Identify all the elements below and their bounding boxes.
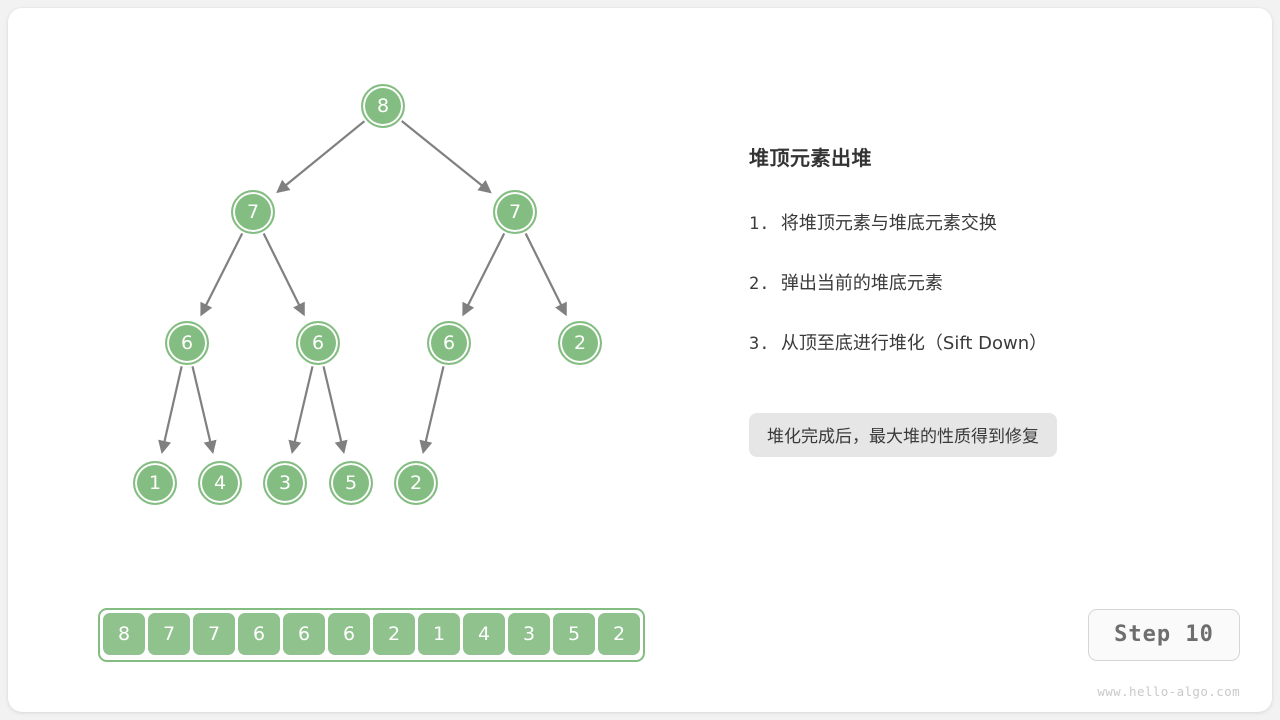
- tree-edge: [402, 121, 490, 192]
- array-cell: 6: [328, 613, 370, 655]
- screenshot-root: 877666214352 堆顶元素出堆 1. 将堆顶元素与堆底元素交换2. 弹出…: [0, 0, 1280, 720]
- tree-node: 2: [558, 321, 602, 365]
- tree-edge: [423, 366, 443, 451]
- step-index: 1.: [749, 214, 769, 234]
- tree-edge: [324, 366, 344, 451]
- heap-tree-diagram: 877666214352: [8, 8, 708, 568]
- array-cell: 6: [283, 613, 325, 655]
- step-badge: Step 10: [1088, 609, 1240, 661]
- step-item: 1. 将堆顶元素与堆底元素交换: [749, 209, 1219, 235]
- tree-edge: [278, 121, 365, 192]
- tree-edge: [193, 366, 213, 451]
- content-card: 877666214352 堆顶元素出堆 1. 将堆顶元素与堆底元素交换2. 弹出…: [8, 8, 1272, 712]
- tree-edge: [201, 233, 242, 314]
- tree-node: 6: [427, 321, 471, 365]
- array-cell: 5: [553, 613, 595, 655]
- tree-edge: [526, 233, 566, 314]
- tree-node: 6: [165, 321, 209, 365]
- tree-node: 2: [394, 461, 438, 505]
- tree-edge: [463, 233, 504, 314]
- tree-edge: [264, 233, 304, 314]
- tree-edge: [162, 366, 182, 451]
- array-cell: 6: [238, 613, 280, 655]
- step-index: 2.: [749, 274, 769, 294]
- tree-node: 7: [231, 190, 275, 234]
- tree-node: 3: [263, 461, 307, 505]
- array-cell: 7: [193, 613, 235, 655]
- step-text: 将堆顶元素与堆底元素交换: [769, 213, 996, 234]
- array-cell: 8: [103, 613, 145, 655]
- tree-node: 4: [198, 461, 242, 505]
- tree-node: 6: [296, 321, 340, 365]
- step-item: 3. 从顶至底进行堆化（Sift Down）: [749, 329, 1219, 355]
- array-cell: 7: [148, 613, 190, 655]
- panel-title: 堆顶元素出堆: [749, 142, 1219, 171]
- step-index: 3.: [749, 334, 769, 354]
- step-text: 弹出当前的堆底元素: [769, 273, 942, 294]
- steps-list: 1. 将堆顶元素与堆底元素交换2. 弹出当前的堆底元素3. 从顶至底进行堆化（S…: [749, 209, 1219, 355]
- step-item: 2. 弹出当前的堆底元素: [749, 269, 1219, 295]
- heap-array: 877666214352: [98, 608, 645, 662]
- tree-node: 5: [329, 461, 373, 505]
- array-cell: 1: [418, 613, 460, 655]
- tree-node: 1: [133, 461, 177, 505]
- tree-node: 7: [493, 190, 537, 234]
- step-text: 从顶至底进行堆化（Sift Down）: [769, 333, 1047, 354]
- watermark: www.hello-algo.com: [1080, 684, 1240, 699]
- array-cell: 2: [598, 613, 640, 655]
- array-cell: 2: [373, 613, 415, 655]
- tree-edge: [292, 366, 312, 451]
- note-badge: 堆化完成后，最大堆的性质得到修复: [749, 413, 1057, 457]
- array-cell: 4: [463, 613, 505, 655]
- array-cell: 3: [508, 613, 550, 655]
- explanation-panel: 堆顶元素出堆 1. 将堆顶元素与堆底元素交换2. 弹出当前的堆底元素3. 从顶至…: [749, 142, 1219, 457]
- tree-node: 8: [361, 84, 405, 128]
